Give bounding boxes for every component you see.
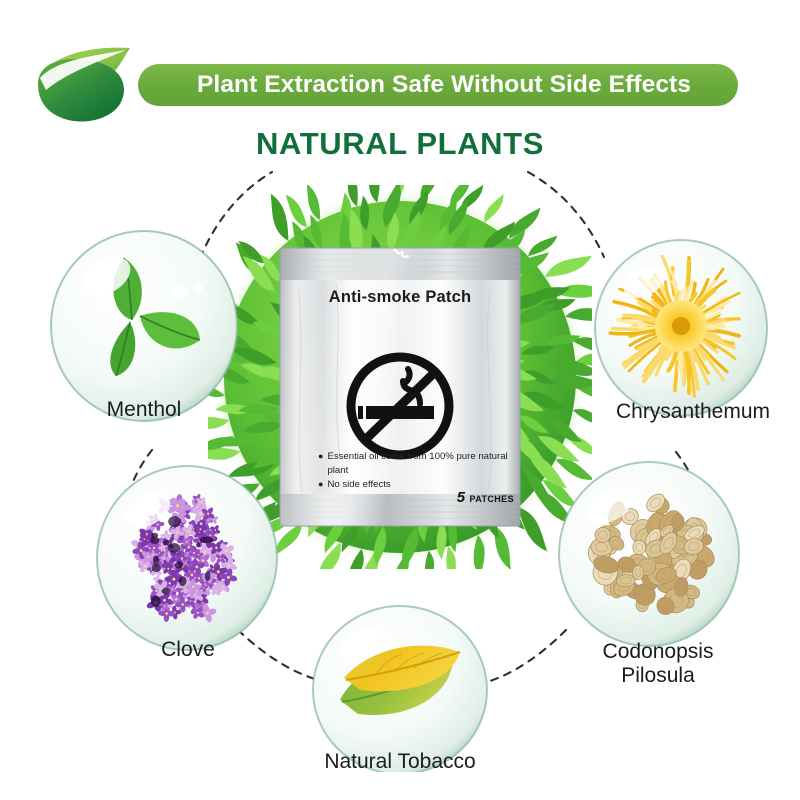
bullet-icon: ● [318, 450, 323, 477]
leaf-icon [26, 46, 154, 126]
feature-item: ● Essential oil come from 100% pure natu… [318, 450, 514, 477]
infographic-canvas: Plant Extraction Safe Without Side Effec… [0, 0, 800, 800]
ingredient-bubble-menthol[interactable] [48, 228, 240, 424]
patch-count-unit: PATCHES [470, 494, 514, 504]
ingredient-bubble-tobacco[interactable] [310, 604, 490, 772]
ingredient-label-codonopsis: Codonopsis Pilosula [548, 640, 768, 688]
product-name: Anti-smoke Patch [276, 288, 524, 307]
feature-text: Essential oil come from 100% pure natura… [327, 450, 514, 477]
patch-count: 5 PATCHES [318, 489, 514, 507]
ingredient-bubble-chrysanthemum[interactable] [592, 238, 770, 418]
ingredient-bubble-clove[interactable] [94, 464, 280, 652]
patch-count-number: 5 [457, 489, 465, 506]
page-title: NATURAL PLANTS [0, 126, 800, 162]
ingredient-label-tobacco: Natural Tobacco [290, 750, 510, 774]
ingredient-label-menthol: Menthol [44, 398, 244, 422]
header-banner: Plant Extraction Safe Without Side Effec… [0, 24, 800, 110]
ingredient-label-clove: Clove [90, 638, 286, 662]
product-features: ● Essential oil come from 100% pure natu… [318, 450, 514, 493]
ingredient-bubble-codonopsis[interactable] [556, 460, 742, 648]
banner-title: Plant Extraction Safe Without Side Effec… [150, 65, 738, 105]
ingredient-label-chrysanthemum: Chrysanthemum [586, 400, 800, 424]
